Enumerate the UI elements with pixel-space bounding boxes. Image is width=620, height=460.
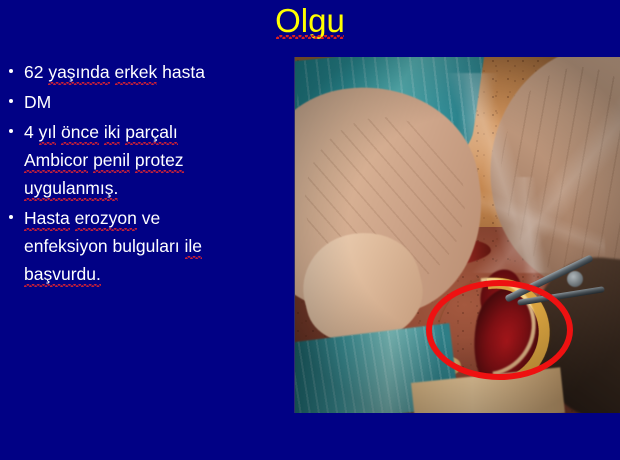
bullet-dot-icon [9, 215, 13, 219]
title-text: Olgu [275, 2, 345, 39]
text-segment-misspelled: uygulanmış. [24, 174, 118, 202]
bullet-list: 62 yaşında erkek hasta DM 4 yıl önce iki… [0, 58, 288, 290]
bullet-line: Ambicor penil protez [24, 146, 288, 174]
bullet-dot-icon [9, 99, 13, 103]
text-segment-misspelled: önce [61, 118, 99, 146]
presentation-slide: Olgu 62 yaşında erkek hasta DM 4 yıl önc… [0, 0, 620, 460]
photo-canvas [295, 57, 620, 413]
text-segment: ve [137, 204, 160, 232]
text-segment-misspelled: protez [135, 146, 184, 174]
annotation-ellipse [426, 280, 573, 380]
text-segment: enfeksiyon bulguları [24, 232, 185, 260]
bullet-line: DM [24, 88, 288, 116]
list-item: DM [0, 88, 288, 116]
list-item: 62 yaşında erkek hasta [0, 58, 288, 86]
bullet-line: başvurdu. [24, 260, 288, 288]
text-segment-misspelled: iki [104, 118, 121, 146]
clinical-photo [294, 57, 620, 413]
text-segment: hasta [157, 58, 205, 86]
text-segment-misspelled: parçalı [125, 118, 178, 146]
text-segment-misspelled: yıl [39, 118, 57, 146]
text-segment-misspelled: Hasta [24, 204, 70, 232]
text-segment-misspelled: erkek [115, 58, 158, 86]
text-segment: 4 [24, 118, 39, 146]
list-item: Hasta erozyon ve enfeksiyon bulguları il… [0, 204, 288, 288]
title-container: Olgu [0, 2, 620, 40]
text-segment: 62 [24, 58, 48, 86]
page-title: Olgu [275, 2, 345, 40]
bullet-line: 62 yaşında erkek hasta [24, 58, 288, 86]
bullet-line: enfeksiyon bulguları ile [24, 232, 288, 260]
text-segment-misspelled: Ambicor [24, 146, 88, 174]
bullet-line: uygulanmış. [24, 174, 288, 202]
text-segment-misspelled: ile [185, 232, 203, 260]
title-spellcheck-underline [276, 35, 344, 39]
bullet-dot-icon [9, 129, 13, 133]
text-segment-misspelled: erozyon [75, 204, 137, 232]
list-item: 4 yıl önce iki parçalı Ambicor penil pro… [0, 118, 288, 202]
bullet-dot-icon [9, 69, 13, 73]
bullet-line: 4 yıl önce iki parçalı [24, 118, 288, 146]
text-segment-misspelled: penil [93, 146, 130, 174]
text-segment-misspelled: başvurdu. [24, 260, 101, 288]
text-segment-misspelled: yaşında [48, 58, 109, 86]
text-segment: DM [24, 88, 51, 116]
bullet-line: Hasta erozyon ve [24, 204, 288, 232]
